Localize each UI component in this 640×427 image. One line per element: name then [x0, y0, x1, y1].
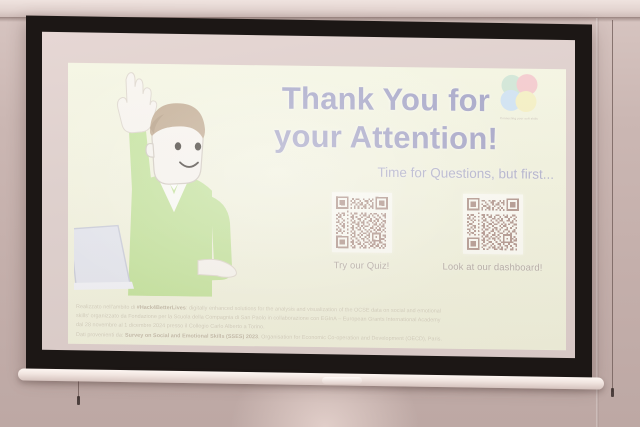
- slide-subheadline: Time for Questions, but first...: [236, 163, 554, 182]
- photo-canvas: Thank You for your Attention! Time for Q…: [0, 0, 640, 427]
- four-petal-flower-icon: [497, 72, 541, 115]
- dashboard-qr-caption: Look at our dashboard!: [433, 261, 553, 273]
- right-tension-cord: [612, 20, 613, 392]
- right-cord-weight: [611, 388, 614, 397]
- screen-bar-handle[interactable]: [322, 377, 362, 384]
- footer-line4-suffix: , Organisation for Economic Co-operation…: [258, 334, 442, 342]
- qr-code-row: Try our Quiz!: [296, 192, 558, 274]
- headline-line-1: Thank You for: [282, 81, 490, 119]
- quiz-qr-caption: Try our Quiz!: [302, 260, 422, 272]
- footer-line1-prefix: Realizzato nell'ambito di: [76, 304, 137, 311]
- footer-hashtag: #Hack4BetterLives: [137, 305, 186, 312]
- dashboard-qr-item[interactable]: Look at our dashboard!: [433, 193, 553, 273]
- slide-footer-credits: Realizzato nell'ambito di #Hack4BetterLi…: [76, 303, 558, 346]
- wall-seam: [596, 18, 599, 427]
- organization-logo: Connecting your soft skills: [488, 72, 550, 121]
- headline-line-2: your Attention!: [216, 117, 556, 159]
- logo-tagline: Connecting your soft skills: [490, 116, 547, 120]
- quiz-qr-item[interactable]: Try our Quiz!: [302, 192, 422, 272]
- left-cord-weight: [77, 396, 80, 405]
- footer-line4-prefix: Dati provenienti da:: [76, 332, 125, 339]
- ceiling-molding: [0, 0, 640, 18]
- quiz-qr[interactable]: [332, 192, 392, 253]
- dashboard-qr[interactable]: [463, 194, 523, 255]
- projected-slide: Thank You for your Attention! Time for Q…: [68, 63, 566, 351]
- footer-line1-suffix: : digitally enhanced solutions for the a…: [186, 305, 441, 314]
- footer-source-title: Survey on Social and Emotional Skills (S…: [125, 332, 258, 340]
